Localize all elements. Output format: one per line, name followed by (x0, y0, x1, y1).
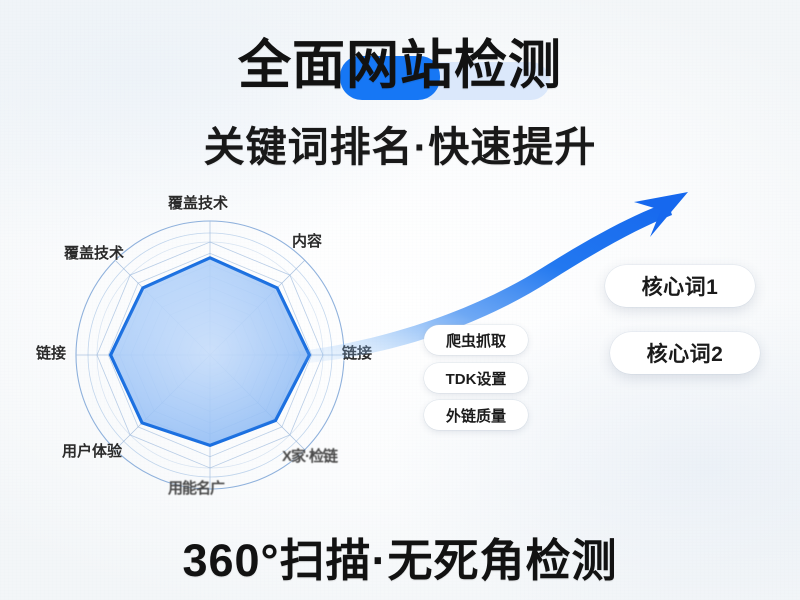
radar-label-right: 链接 (342, 342, 372, 363)
page-subtitle: 关键词排名·快速提升 (204, 113, 597, 173)
page-title: 全面网站检测 (238, 36, 562, 95)
footer-tagline: 360°扫描·无死角检测 (182, 524, 617, 589)
keyword-card-1[interactable]: 核心词1 (605, 265, 755, 307)
radar-label-left: 链接 (36, 342, 66, 363)
radar-label-bottom-left: 用户体验 (62, 440, 122, 461)
radar-label-top-left: 覆盖技术 (64, 242, 124, 263)
radar-label-bottom-right: X家·检链 (282, 445, 337, 466)
title-part-two: 检测 (454, 36, 562, 95)
tag-backlink-quality[interactable]: 外链质量 (424, 400, 528, 430)
keyword-card-2[interactable]: 核心词2 (610, 332, 760, 374)
radar-label-bottom: 用能名广 (168, 477, 224, 498)
tag-crawl[interactable]: 爬虫抓取 (424, 325, 528, 355)
footer-container: 360°扫描·无死角检测 (0, 524, 800, 589)
subheadline-container: 关键词排名·快速提升 (0, 113, 800, 173)
tag-tdk[interactable]: TDK设置 (424, 363, 528, 393)
radar-label-top-right: 内容 (292, 230, 322, 251)
arrow-head (634, 192, 688, 237)
title-part-one: 全面 (238, 36, 346, 95)
headline-container: 全面网站检测 (0, 36, 800, 95)
radar-chart: 覆盖技术 内容 链接 X家·检链 用能名广 用户体验 链接 覆盖技术 (20, 190, 420, 510)
poster-canvas: 全面网站检测 关键词排名·快速提升 (0, 0, 800, 600)
title-highlight-text: 网站 (346, 36, 454, 95)
radar-label-top: 覆盖技术 (168, 192, 228, 213)
